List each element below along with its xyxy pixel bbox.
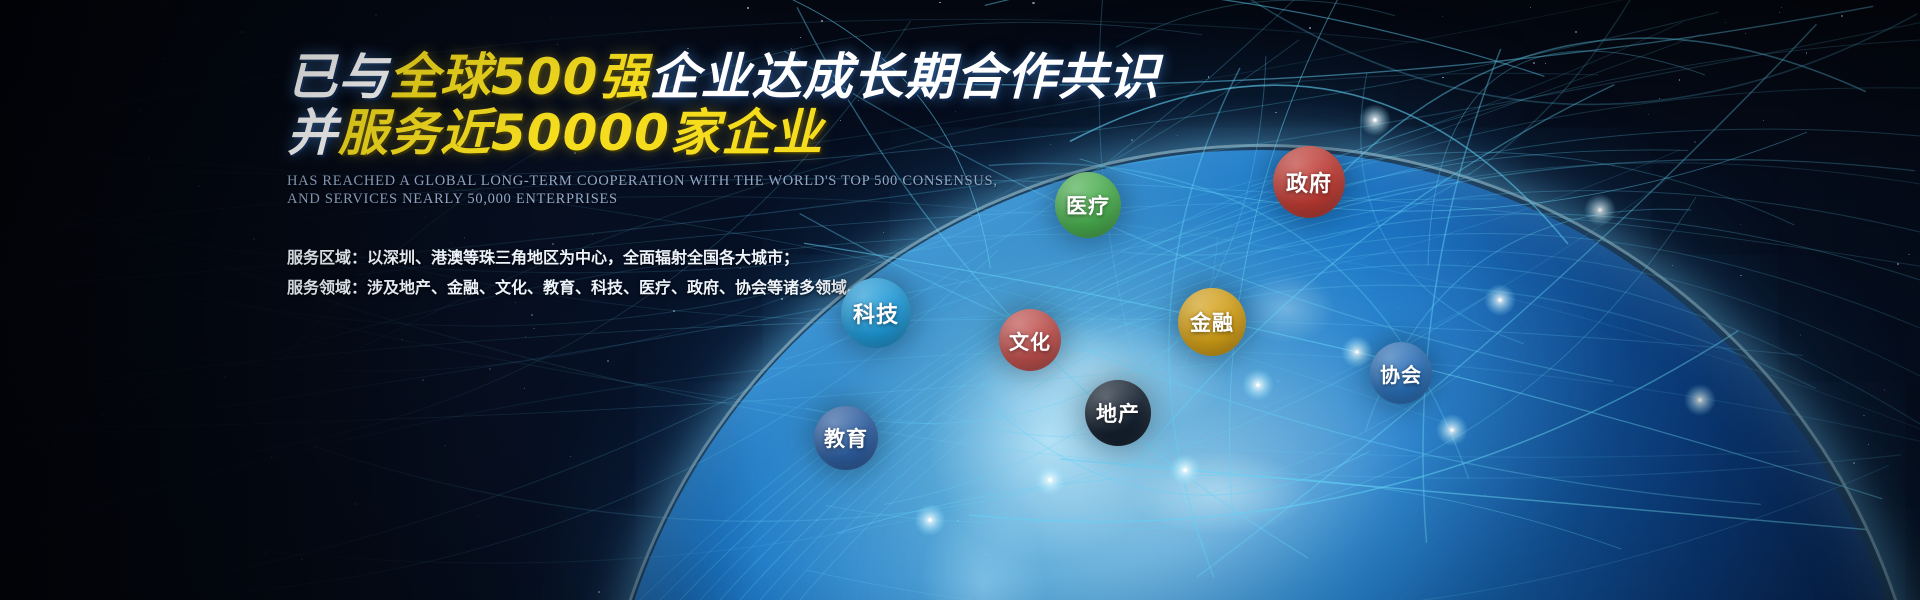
badge-label: 协会 xyxy=(1380,359,1422,388)
english-subtitle: HAS REACHED A GLOBAL LONG-TERM COOPERATI… xyxy=(287,172,1047,208)
badge-label: 政府 xyxy=(1286,166,1332,198)
star xyxy=(939,2,941,4)
headline-run-yellow-1: 全球500强 xyxy=(389,48,649,106)
star xyxy=(821,20,823,22)
badge-label: 医疗 xyxy=(1066,190,1110,220)
star xyxy=(1745,33,1746,34)
promo-banner: 已与全球500强企业达成长期合作共识 并服务近50000家企业 HAS REAC… xyxy=(0,0,1920,600)
star xyxy=(1763,120,1764,121)
star xyxy=(1050,144,1052,146)
star xyxy=(1659,98,1661,100)
headline-run-white-0: 并 xyxy=(287,104,338,162)
star xyxy=(1725,22,1726,23)
headline-line-1: 已与全球500强企业达成长期合作共识 xyxy=(287,52,1047,102)
badge-教育[interactable]: 教育 xyxy=(814,406,878,470)
star xyxy=(1032,2,1034,4)
badge-label: 金融 xyxy=(1190,307,1234,337)
headline-run-yellow-1: 服务近50000家企业 xyxy=(338,104,823,162)
star xyxy=(1694,141,1696,143)
star xyxy=(1779,12,1780,13)
body-copy: 服务区域：以深圳、港澳等珠三角地区为中心，全面辐射全国各大城市； 服务领域：涉及… xyxy=(287,244,1047,304)
service-area-line: 服务区域：以深圳、港澳等珠三角地区为中心，全面辐射全国各大城市； xyxy=(287,244,1047,274)
badge-label: 教育 xyxy=(824,423,868,453)
star xyxy=(1841,15,1842,16)
star xyxy=(1275,112,1277,114)
star xyxy=(1530,7,1531,8)
badge-政府[interactable]: 政府 xyxy=(1273,146,1345,218)
badge-地产[interactable]: 地产 xyxy=(1085,380,1151,446)
headline-run-white-2: 企业达成长期合作共识 xyxy=(649,48,1159,106)
star xyxy=(1679,79,1680,80)
badge-金融[interactable]: 金融 xyxy=(1178,288,1246,356)
star xyxy=(1806,52,1808,54)
headline-run-white-0: 已与 xyxy=(287,48,389,106)
star xyxy=(1781,7,1783,9)
headline-line-2: 并服务近50000家企业 xyxy=(287,108,1047,158)
english-subtitle-line-2: AND SERVICES NEARLY 50,000 ENTERPRISES xyxy=(287,190,1047,208)
star xyxy=(1309,27,1311,29)
copy-block: 已与全球500强企业达成长期合作共识 并服务近50000家企业 HAS REAC… xyxy=(287,52,1047,304)
english-subtitle-line-1: HAS REACHED A GLOBAL LONG-TERM COOPERATI… xyxy=(287,172,1047,190)
service-field-line: 服务领域：涉及地产、金融、文化、教育、科技、医疗、政府、协会等诸多领域。 xyxy=(287,274,1047,304)
star xyxy=(1442,16,1443,17)
badge-文化[interactable]: 文化 xyxy=(999,309,1061,371)
star xyxy=(1442,77,1444,79)
badge-科技[interactable]: 科技 xyxy=(841,278,911,348)
badge-label: 科技 xyxy=(853,297,899,329)
star xyxy=(800,37,802,39)
badge-label: 地产 xyxy=(1096,398,1140,428)
badge-label: 文化 xyxy=(1009,326,1051,355)
badge-协会[interactable]: 协会 xyxy=(1370,342,1432,404)
star xyxy=(1208,76,1210,78)
star xyxy=(1533,62,1535,64)
star xyxy=(1575,31,1576,32)
badge-医疗[interactable]: 医疗 xyxy=(1055,172,1121,238)
star xyxy=(1648,114,1649,115)
star xyxy=(1545,63,1546,64)
